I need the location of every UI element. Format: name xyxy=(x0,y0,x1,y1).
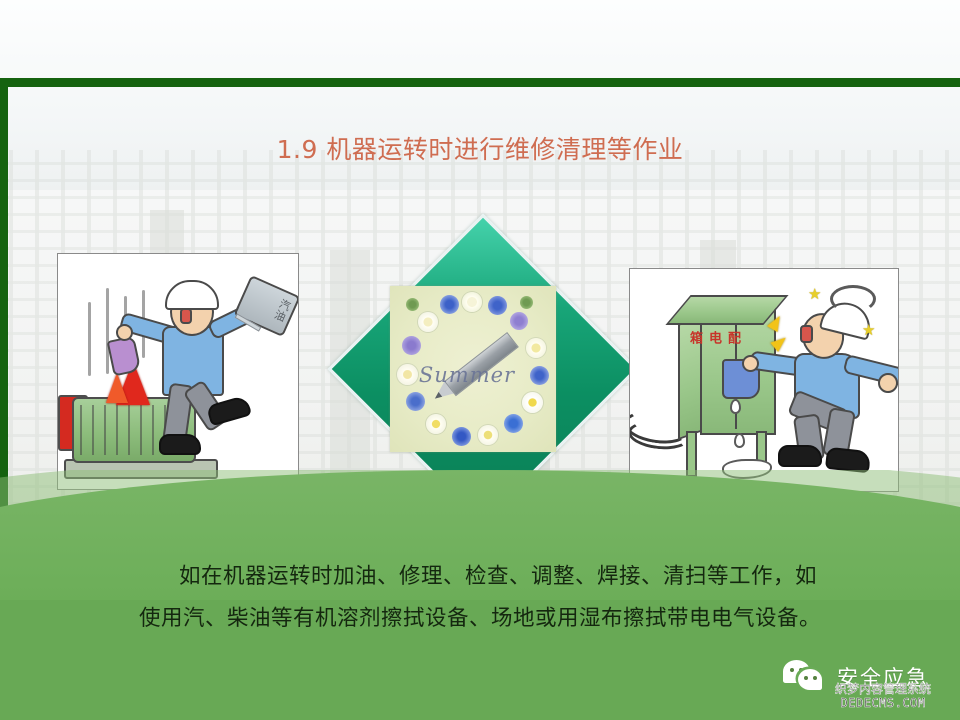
wechat-eye-dot xyxy=(790,668,794,672)
dizzy-star-icon: ★ xyxy=(808,287,821,302)
worker-hand-right xyxy=(878,373,898,393)
flower-daisy xyxy=(397,364,418,385)
flower-cornflower xyxy=(510,312,528,330)
top-green-rule xyxy=(0,78,960,87)
flower-daisy xyxy=(418,312,438,332)
illustration-right: 配电箱 ★ ★ xyxy=(629,268,899,492)
page-title: 1.9 机器运转时进行维修清理等作业 xyxy=(0,133,960,167)
flower-bud xyxy=(520,296,533,309)
worker-open-mouth xyxy=(800,325,813,343)
flower-daisy xyxy=(522,392,543,413)
flower-cornflower xyxy=(402,336,421,355)
flower-cornflower xyxy=(488,296,507,315)
worker-hand-left xyxy=(742,355,759,372)
slide-canvas: 1.9 机器运转时进行维修清理等作业 Summer xyxy=(0,0,960,720)
flower-cornflower xyxy=(452,427,471,446)
flower-daisy xyxy=(526,338,546,358)
watermark-en: DEDECMS.COM xyxy=(835,696,931,710)
smoke-wisp xyxy=(88,302,91,376)
flower-bud xyxy=(406,298,419,311)
worker-helmet xyxy=(165,280,219,310)
body-line-1: 如在机器运转时加油、修理、检查、调整、焊接、清扫等工作，如 xyxy=(80,556,880,598)
dizzy-swirl-icon xyxy=(830,285,876,313)
worker-shoe-left xyxy=(159,434,201,455)
site-watermark: 织梦内容管理系统 DEDECMS.COM xyxy=(835,682,931,710)
water-drop xyxy=(734,433,745,448)
motor-ribs xyxy=(80,405,168,455)
wechat-eye-dot xyxy=(804,676,808,680)
flower-daisy xyxy=(462,292,482,312)
smoke-wisp xyxy=(106,288,109,374)
worker-hand-left xyxy=(116,324,133,341)
illustration-left: 汽油 xyxy=(57,253,299,490)
flower-cornflower xyxy=(530,366,549,385)
wechat-eye-dot xyxy=(813,676,817,680)
flower-cornflower xyxy=(504,414,523,433)
watermark-cn: 织梦内容管理系统 xyxy=(835,682,931,696)
water-drop xyxy=(730,399,741,414)
wechat-icon xyxy=(783,660,829,693)
dizzy-star-icon: ★ xyxy=(862,323,875,338)
worker-shoe-left xyxy=(778,445,822,467)
flower-cornflower xyxy=(406,392,425,411)
gasoline-can: 汽油 xyxy=(233,275,299,337)
flower-cornflower xyxy=(440,295,459,314)
body-paragraph: 如在机器运转时加油、修理、检查、调整、焊接、清扫等工作，如 使用汽、柴油等有机溶… xyxy=(80,556,880,640)
flower-daisy xyxy=(478,425,498,445)
flame-icon xyxy=(106,373,128,403)
worker-open-mouth xyxy=(180,308,192,324)
body-line-2: 使用汽、柴油等有机溶剂擦拭设备、场地或用湿布擦拭带电电气设备。 xyxy=(80,598,880,640)
wreath-image: Summer xyxy=(390,286,556,452)
flower-daisy xyxy=(426,414,446,434)
gasoline-can-label: 汽油 xyxy=(271,297,292,324)
wechat-bubble-small xyxy=(798,669,822,690)
